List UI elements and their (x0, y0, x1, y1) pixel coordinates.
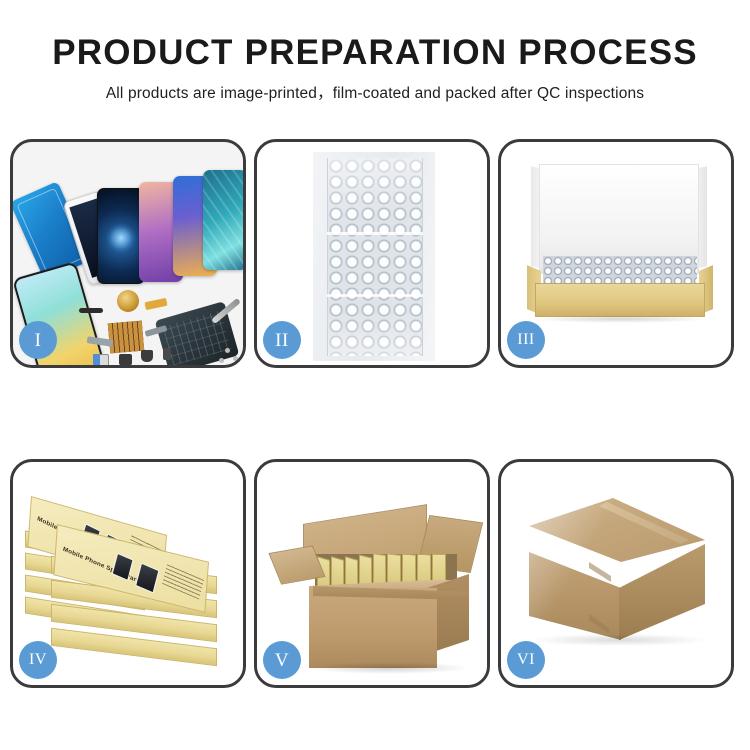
screw-icon (225, 348, 230, 353)
process-step-cell-5: V (252, 459, 496, 688)
screw-icon (233, 356, 238, 361)
phone-screen-dark-icon (97, 188, 145, 284)
step-badge-4: IV (19, 641, 57, 679)
wrap-seam-line (327, 232, 423, 235)
step-badge-5: V (263, 641, 301, 679)
button-part-icon (163, 348, 171, 360)
camera-module-icon (119, 354, 132, 365)
page-subtitle: All products are image-printed，film-coat… (0, 81, 750, 103)
process-step-cell-4: Mobile Phone Spare Parts Mobile Phone Sp… (8, 459, 252, 688)
bubble-wrapped-contents-icon (543, 256, 697, 286)
step-badge-6: VI (507, 641, 545, 679)
page-header: PRODUCT PREPARATION PROCESS All products… (0, 0, 750, 103)
step-badge-2: II (263, 321, 301, 359)
process-step-cell-2: II (252, 139, 496, 368)
vibrator-part-icon (141, 350, 153, 362)
box-screen-image (135, 563, 160, 594)
speaker-part-icon (79, 308, 103, 313)
process-steps-grid: I II (8, 139, 740, 688)
wrap-seam-line (327, 294, 423, 297)
step-badge-3: III (507, 321, 545, 359)
drop-shadow (531, 634, 707, 646)
step-card-stacked-boxes[interactable]: Mobile Phone Spare Parts Mobile Phone Sp… (10, 459, 246, 688)
page-title: PRODUCT PREPARATION PROCESS (0, 34, 750, 72)
drop-shadow (535, 315, 707, 323)
phone-screen-teal-icon (203, 170, 243, 270)
carton-front-panel (309, 588, 437, 668)
screw-icon (219, 358, 224, 363)
step-card-inner-box[interactable]: III (498, 139, 734, 368)
sim-tray-icon (99, 354, 109, 365)
box-spec-lines (162, 563, 204, 599)
bubble-wrap-icon (327, 158, 423, 356)
process-step-cell-1: I (8, 139, 252, 368)
battery-part-icon (93, 354, 100, 365)
step-badge-1: I (19, 321, 57, 359)
step-card-open-carton[interactable]: V (254, 459, 490, 688)
kraft-box-front-icon (535, 283, 705, 317)
wireless-coil-icon (117, 290, 139, 312)
process-step-cell-3: III (496, 139, 740, 368)
drop-shadow (307, 662, 471, 674)
step-card-sealed-carton[interactable]: VI (498, 459, 734, 688)
process-step-cell-6: VI (496, 459, 740, 688)
step-card-bubble-wrap[interactable]: II (254, 139, 490, 368)
chip-grid-icon (108, 321, 144, 354)
step-card-phone-parts[interactable]: I (10, 139, 246, 368)
